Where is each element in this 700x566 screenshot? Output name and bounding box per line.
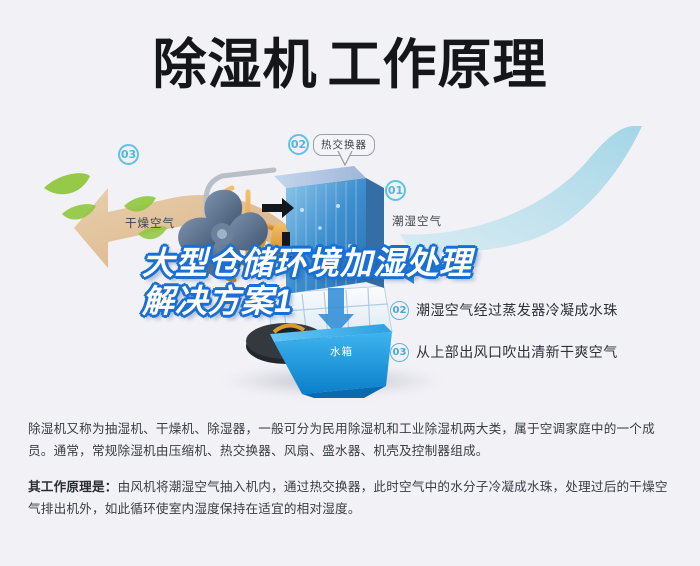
water-tank-label: 水箱	[330, 344, 353, 359]
step-text: 潮湿空气经过蒸发器冷凝成水珠	[416, 300, 618, 320]
list-item: 02 潮湿空气经过蒸发器冷凝成水珠	[390, 300, 690, 320]
step-badge: 03	[390, 343, 409, 362]
title-part-1: 除湿机	[153, 35, 318, 95]
diagram-badge-dry-air: 03	[118, 144, 139, 165]
humid-air-label: 潮湿空气	[392, 213, 442, 229]
paragraph-principle-label: 其工作原理是：	[28, 479, 118, 494]
list-item: 03 从上部出风口吹出清新干爽空气	[390, 342, 690, 362]
callout-pointer-icon	[337, 151, 353, 166]
paragraph-principle-text: 由风机将潮湿空气抽入机内，通过热交换器，此时空气中的水分子冷凝成水珠，处理过后的…	[28, 479, 668, 516]
step-list: 02 潮湿空气经过蒸发器冷凝成水珠 03 从上部出风口吹出清新干爽空气	[390, 300, 690, 384]
page-title: 除湿机工作原理	[0, 30, 700, 100]
dry-air-label: 干燥空气	[125, 215, 175, 231]
title-part-2: 工作原理	[328, 35, 548, 95]
paragraph-principle: 其工作原理是：由风机将潮湿空气抽入机内，通过热交换器，此时空气中的水分子冷凝成水…	[28, 476, 676, 520]
diagram-badge-heat-exchanger: 02	[288, 134, 309, 155]
paragraph-definition: 除湿机又称为抽湿机、干燥机、除湿器，一般可分为民用除湿机和工业除湿机两大类，属于…	[28, 418, 676, 462]
body-copy: 除湿机又称为抽湿机、干燥机、除湿器，一般可分为民用除湿机和工业除湿机两大类，属于…	[28, 418, 676, 520]
diagram-badge-humid-air: 01	[385, 180, 406, 201]
step-text: 从上部出风口吹出清新干爽空气	[416, 342, 618, 362]
step-badge: 02	[390, 301, 409, 320]
